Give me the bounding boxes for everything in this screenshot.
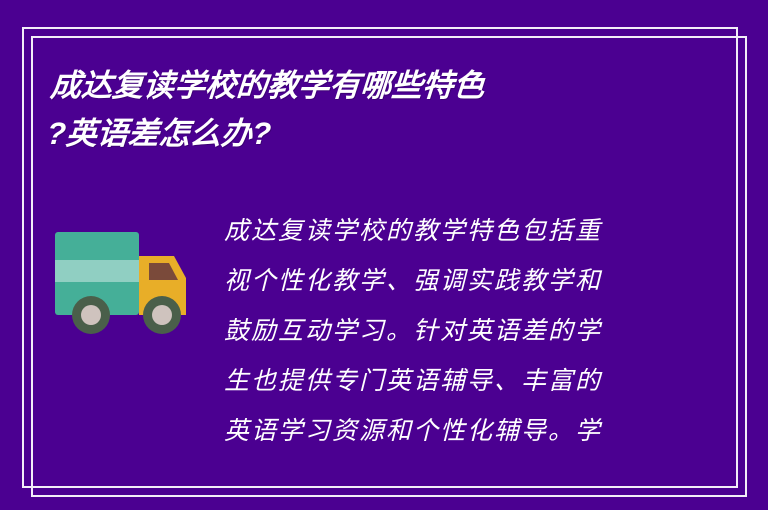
body-line-2: 视个性化教学、强调实践教学和 (224, 256, 664, 306)
body-line-5: 英语学习资源和个性化辅导。学 (224, 406, 664, 456)
body-line-1: 成达复读学校的教学特色包括重 (224, 206, 664, 256)
title-line-1: 成达复读学校的教学有哪些特色 (49, 62, 672, 110)
body-line-3: 鼓励互动学习。针对英语差的学 (224, 306, 664, 356)
body-text: 成达复读学校的教学特色包括重 视个性化教学、强调实践教学和 鼓励互动学习。针对英… (224, 206, 664, 456)
title-line-2: ?英语差怎么办? (45, 110, 668, 158)
page-title: 成达复读学校的教学有哪些特色 ?英语差怎么办? (45, 62, 672, 158)
body-line-4: 生也提供专门英语辅导、丰富的 (224, 356, 664, 406)
poster-canvas: 成达复读学校的教学有哪些特色 ?英语差怎么办? 成达复读学校的教学特色包括重 视… (0, 0, 768, 510)
delivery-truck-icon (52, 222, 212, 342)
